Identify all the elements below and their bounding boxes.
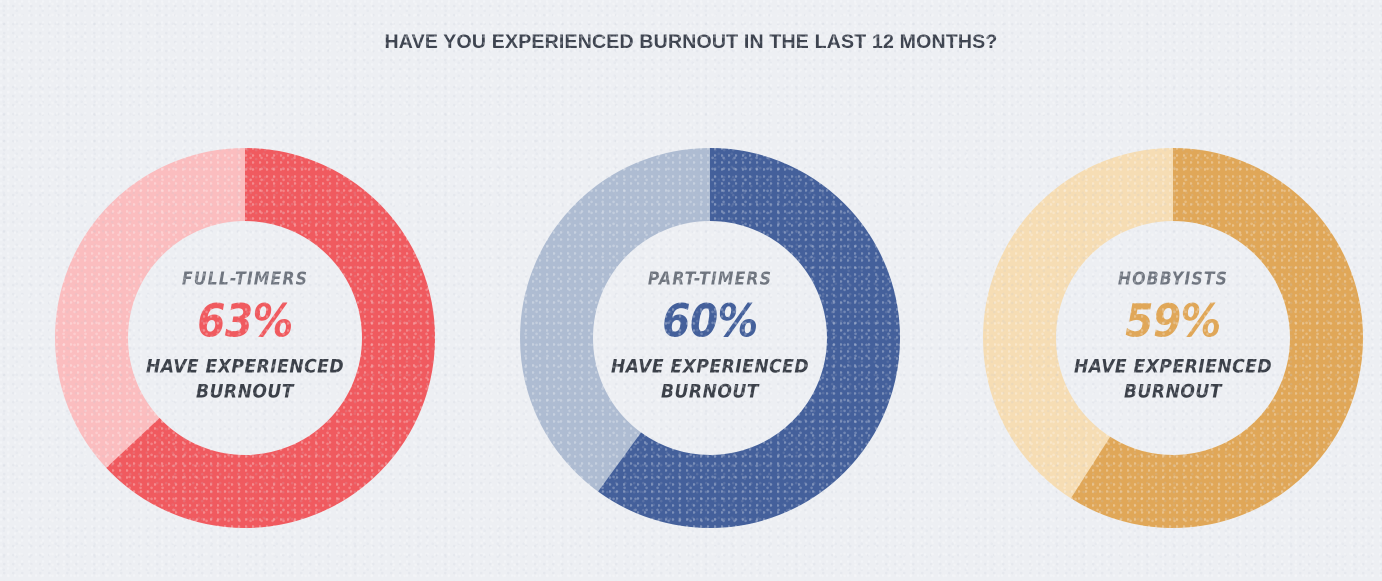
group-label: HOBBYISTS: [1059, 271, 1287, 289]
group-label: PART-TIMERS: [596, 271, 824, 289]
donut-center-label-group: HOBBYISTS 59% HAVE EXPERIENCED BURNOUT: [1059, 271, 1287, 404]
donut-chart-full-timers: FULL-TIMERS 63% HAVE EXPERIENCED BURNOUT: [54, 147, 436, 529]
page-title: HAVE YOU EXPERIENCED BURNOUT IN THE LAST…: [0, 31, 1382, 54]
donut-center-label-group: PART-TIMERS 60% HAVE EXPERIENCED BURNOUT: [596, 271, 824, 404]
sub-label-line-1: HAVE EXPERIENCED: [131, 354, 359, 379]
donut-chart-hobbyists: HOBBYISTS 59% HAVE EXPERIENCED BURNOUT: [982, 147, 1364, 529]
percent-value: 63%: [131, 298, 359, 343]
sub-label-line-2: BURNOUT: [1059, 379, 1287, 404]
percent-value: 59%: [1059, 298, 1287, 343]
percent-value: 60%: [596, 298, 824, 343]
donut-charts-row: FULL-TIMERS 63% HAVE EXPERIENCED BURNOUT…: [0, 147, 1382, 529]
sub-label-line-1: HAVE EXPERIENCED: [596, 354, 824, 379]
donut-chart-part-timers: PART-TIMERS 60% HAVE EXPERIENCED BURNOUT: [519, 147, 901, 529]
sub-label-line-1: HAVE EXPERIENCED: [1059, 354, 1287, 379]
donut-center-label-group: FULL-TIMERS 63% HAVE EXPERIENCED BURNOUT: [131, 271, 359, 404]
sub-label-line-2: BURNOUT: [596, 379, 824, 404]
sub-label-line-2: BURNOUT: [131, 379, 359, 404]
group-label: FULL-TIMERS: [131, 271, 359, 289]
